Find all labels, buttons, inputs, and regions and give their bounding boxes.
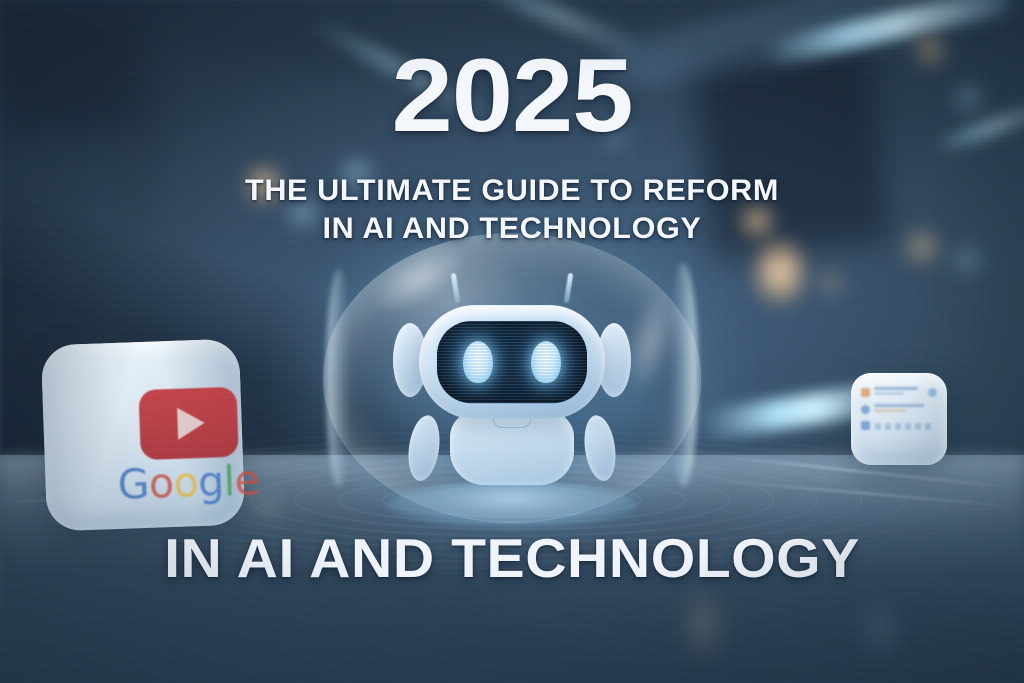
robot-arm-right [581, 413, 620, 483]
google-letter-g2: g [197, 457, 224, 506]
dome-sphere [323, 233, 701, 523]
robot-body [450, 411, 574, 485]
blue-circle-icon [928, 388, 937, 397]
antenna-right-icon [564, 273, 574, 303]
google-letter-o2: o [173, 458, 199, 507]
dome-base-glow [387, 482, 637, 528]
google-letter-g1: G [117, 460, 150, 509]
play-triangle-icon [177, 407, 205, 440]
robot-arm-left [405, 413, 444, 483]
cube-mini-ui [861, 387, 937, 437]
mini-ui-row [861, 404, 937, 414]
poster-headline: THE ULTIMATE GUIDE TO REFORM IN AI AND T… [0, 172, 1024, 249]
antenna-left-icon [451, 273, 461, 303]
bokeh-cool-4 [955, 248, 979, 272]
screen-scanlines [437, 321, 587, 403]
bokeh-warm-3 [757, 240, 803, 304]
mini-ui-bar [874, 392, 904, 395]
mini-ui-bars [874, 387, 924, 397]
headline-line-2: IN AI AND TECHNOLOGY [0, 210, 1024, 248]
mini-ui-dot [895, 423, 901, 430]
mini-ui-dot [875, 423, 881, 430]
mini-ui-bar [874, 404, 924, 407]
eye-scanlines [463, 341, 493, 383]
mini-ui-row [861, 387, 937, 397]
dome-rim-right [668, 263, 698, 488]
robot-eye-left [463, 341, 493, 383]
mini-ui-dots [874, 423, 931, 430]
google-letter-o1: o [148, 459, 174, 508]
poster-canvas: Google [0, 0, 1024, 683]
mini-ui-dot [885, 423, 891, 430]
blue-square-icon [861, 421, 870, 430]
dome-rim-left [326, 269, 352, 488]
glass-dome [323, 233, 701, 523]
robot-head [419, 305, 605, 419]
ai-mascot-robot [387, 279, 637, 494]
mini-ui-dot [915, 423, 921, 430]
orange-square-icon [861, 388, 870, 397]
blue-dot-icon [861, 405, 870, 414]
poster-year: 2025 [0, 44, 1024, 148]
mini-ui-dot [925, 423, 931, 430]
app-ui-cube[interactable] [851, 373, 947, 465]
mini-ui-dot [905, 423, 911, 430]
robot-eye-right [531, 341, 561, 383]
headline-line-1: THE ULTIMATE GUIDE TO REFORM [0, 172, 1024, 210]
google-wordmark: Google [117, 456, 260, 509]
google-letter-e: e [234, 456, 260, 505]
mini-ui-bars [874, 404, 937, 414]
youtube-play-icon [138, 387, 238, 460]
robot-face-screen [437, 321, 587, 403]
bokeh-warm-7 [820, 272, 842, 294]
mini-ui-bar [874, 387, 918, 390]
poster-footer: IN AI AND TECHNOLOGY [0, 531, 1024, 586]
eye-scanlines [531, 341, 561, 383]
mini-ui-bar [874, 409, 907, 412]
mini-ui-row [861, 421, 937, 430]
google-youtube-cube[interactable]: Google [41, 339, 245, 532]
